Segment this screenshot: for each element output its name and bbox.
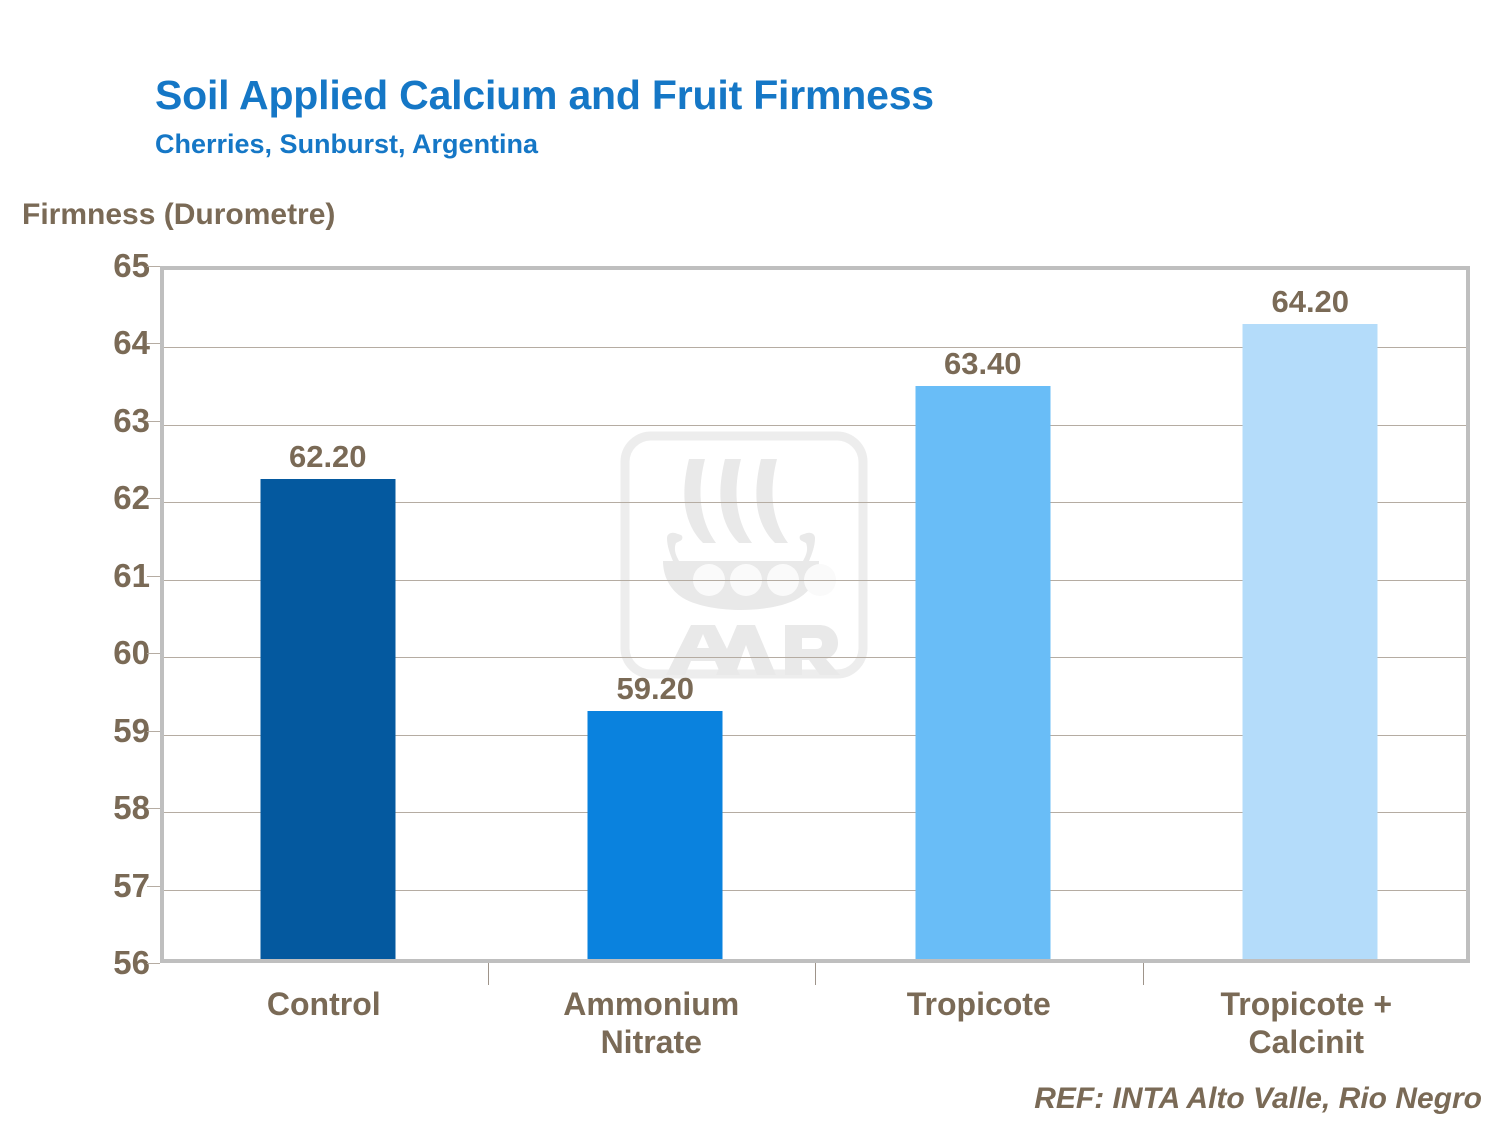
y-tick-label: 64 (60, 324, 150, 362)
y-tick-mark (147, 266, 160, 267)
y-tick-label: 60 (60, 634, 150, 672)
bar-column[interactable]: 59.20 (492, 270, 820, 959)
y-tick-mark (147, 808, 160, 809)
x-axis-category-label: Control (160, 985, 488, 1023)
y-tick-mark (147, 731, 160, 732)
y-tick-label: 62 (60, 479, 150, 517)
bar[interactable] (1243, 324, 1378, 959)
y-tick-mark (147, 343, 160, 344)
bar[interactable] (260, 479, 395, 959)
y-tick-mark (147, 498, 160, 499)
y-tick-label: 56 (60, 944, 150, 982)
x-axis-category-label: AmmoniumNitrate (488, 985, 816, 1061)
x-axis-ticks (160, 963, 1470, 985)
y-tick-mark (147, 963, 160, 964)
bar-value-label: 59.20 (616, 671, 694, 707)
plot-inner: 62.2059.2063.4064.20 (164, 270, 1466, 959)
x-axis-category-line: Tropicote (815, 985, 1143, 1023)
y-axis: 65646362616059585756 (50, 266, 150, 963)
bar-value-label: 62.20 (289, 439, 367, 475)
plot-area: 62.2059.2063.4064.20 (160, 266, 1470, 963)
bar[interactable] (588, 711, 723, 959)
y-tick-mark (147, 576, 160, 577)
bar[interactable] (915, 386, 1050, 959)
bar-value-label: 63.40 (944, 346, 1022, 382)
y-tick-mark (147, 653, 160, 654)
bar-column[interactable]: 63.40 (819, 270, 1147, 959)
x-axis-category-line: Ammonium (488, 985, 816, 1023)
chart-subtitle: Cherries, Sunburst, Argentina (155, 129, 538, 160)
x-axis-category-line: Calcinit (1143, 1023, 1471, 1061)
y-tick-label: 57 (60, 867, 150, 905)
reference-note: REF: INTA Alto Valle, Rio Negro (1034, 1082, 1482, 1116)
x-axis-category-line: Tropicote + (1143, 985, 1471, 1023)
x-axis-category-line: Nitrate (488, 1023, 816, 1061)
x-axis-labels: ControlAmmoniumNitrateTropicoteTropicote… (160, 985, 1470, 1095)
y-tick-label: 59 (60, 712, 150, 750)
bar-column[interactable]: 64.20 (1147, 270, 1467, 959)
x-tick-mark (1143, 963, 1144, 985)
x-tick-mark (815, 963, 816, 985)
page-title: Soil Applied Calcium and Fruit Firmness (155, 72, 934, 119)
x-axis-category-line: Control (160, 985, 488, 1023)
y-tick-mark (147, 886, 160, 887)
y-tick-label: 58 (60, 789, 150, 827)
y-tick-label: 65 (60, 247, 150, 285)
x-axis-category-label: Tropicote (815, 985, 1143, 1023)
y-tick-label: 63 (60, 402, 150, 440)
y-tick-mark (147, 421, 160, 422)
y-axis-title: Firmness (Durometre) (22, 198, 335, 232)
bar-value-label: 64.20 (1271, 284, 1349, 320)
y-tick-label: 61 (60, 557, 150, 595)
x-axis-category-label: Tropicote +Calcinit (1143, 985, 1471, 1061)
bar-column[interactable]: 62.20 (164, 270, 492, 959)
x-tick-mark (488, 963, 489, 985)
